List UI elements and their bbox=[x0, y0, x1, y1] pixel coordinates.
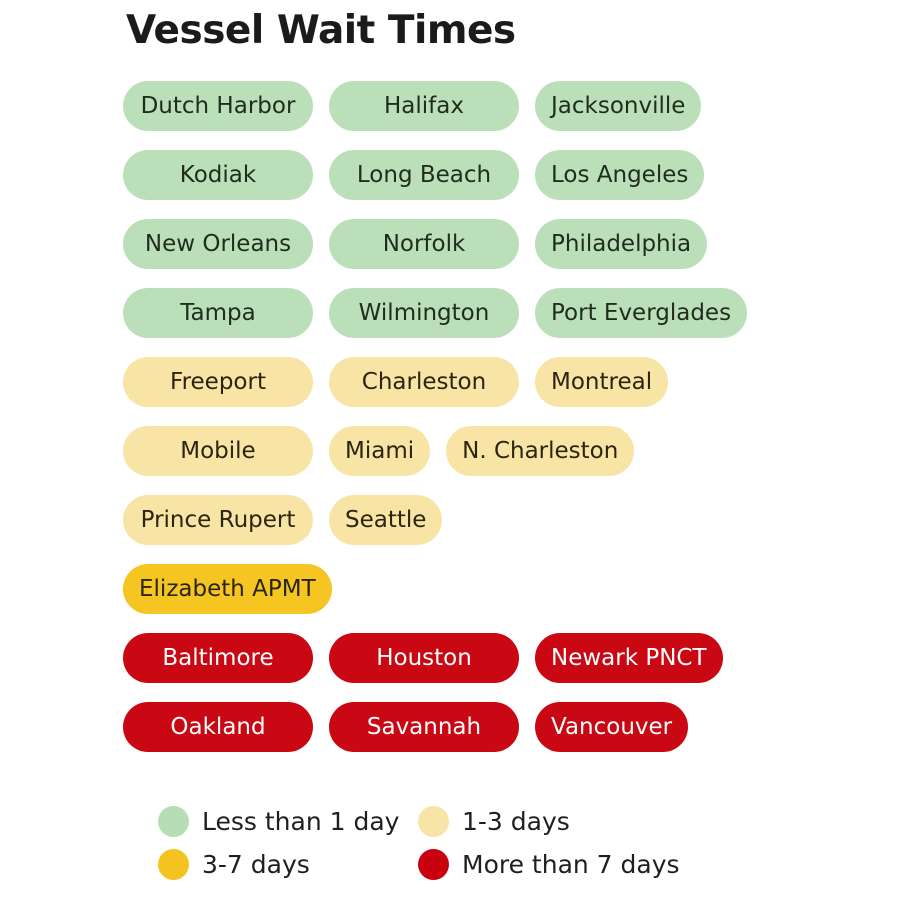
port-row: OaklandSavannahVancouver bbox=[123, 700, 823, 754]
port-cell: N. Charleston bbox=[446, 426, 634, 476]
port-cell: Prince Rupert bbox=[123, 495, 313, 545]
port-cell: Philadelphia bbox=[535, 219, 707, 269]
port-pill[interactable]: Dutch Harbor bbox=[123, 81, 313, 131]
port-cell: Seattle bbox=[329, 495, 442, 545]
more-than-7-days-swatch bbox=[418, 849, 449, 880]
port-pill[interactable]: Newark PNCT bbox=[535, 633, 723, 683]
port-pill[interactable]: Houston bbox=[329, 633, 519, 683]
port-cell: Kodiak bbox=[123, 150, 313, 200]
port-row: Prince RupertSeattle bbox=[123, 493, 823, 547]
port-cell: Mobile bbox=[123, 426, 313, 476]
port-pill[interactable]: Montreal bbox=[535, 357, 668, 407]
port-pill[interactable]: Kodiak bbox=[123, 150, 313, 200]
port-cell: Wilmington bbox=[329, 288, 519, 338]
port-cell: Newark PNCT bbox=[535, 633, 723, 683]
port-row: New OrleansNorfolkPhiladelphia bbox=[123, 217, 823, 271]
legend-label: Less than 1 day bbox=[202, 807, 399, 836]
legend-row: 3-7 daysMore than 7 days bbox=[158, 843, 858, 886]
port-row: MobileMiamiN. Charleston bbox=[123, 424, 823, 478]
port-pill-grid: Dutch HarborHalifaxJacksonvilleKodiakLon… bbox=[123, 79, 823, 769]
port-pill[interactable]: Seattle bbox=[329, 495, 442, 545]
port-cell: Jacksonville bbox=[535, 81, 701, 131]
port-pill[interactable]: Philadelphia bbox=[535, 219, 707, 269]
port-pill[interactable]: Elizabeth APMT bbox=[123, 564, 332, 614]
legend-label: More than 7 days bbox=[462, 850, 680, 879]
1-3-days-swatch bbox=[418, 806, 449, 837]
page-title: Vessel Wait Times bbox=[126, 8, 516, 53]
port-pill[interactable]: Savannah bbox=[329, 702, 519, 752]
3-7-days-swatch bbox=[158, 849, 189, 880]
port-row: KodiakLong BeachLos Angeles bbox=[123, 148, 823, 202]
port-pill[interactable]: Los Angeles bbox=[535, 150, 704, 200]
port-pill[interactable]: Long Beach bbox=[329, 150, 519, 200]
port-row: TampaWilmingtonPort Everglades bbox=[123, 286, 823, 340]
port-cell: Oakland bbox=[123, 702, 313, 752]
less-than-1-day-swatch bbox=[158, 806, 189, 837]
legend-row: Less than 1 day1-3 days bbox=[158, 800, 858, 843]
port-cell: Halifax bbox=[329, 81, 519, 131]
port-cell: Norfolk bbox=[329, 219, 519, 269]
port-cell: Vancouver bbox=[535, 702, 688, 752]
legend-label: 1-3 days bbox=[462, 807, 570, 836]
port-pill[interactable]: Prince Rupert bbox=[123, 495, 313, 545]
port-pill[interactable]: N. Charleston bbox=[446, 426, 634, 476]
port-cell: Charleston bbox=[329, 357, 519, 407]
legend-item[interactable]: 1-3 days bbox=[418, 806, 678, 837]
port-pill[interactable]: Wilmington bbox=[329, 288, 519, 338]
port-pill[interactable]: Halifax bbox=[329, 81, 519, 131]
port-cell: Elizabeth APMT bbox=[123, 564, 332, 614]
legend-item[interactable]: 3-7 days bbox=[158, 849, 418, 880]
port-row: Elizabeth APMT bbox=[123, 562, 823, 616]
port-cell: Baltimore bbox=[123, 633, 313, 683]
port-pill[interactable]: Miami bbox=[329, 426, 430, 476]
port-pill[interactable]: Baltimore bbox=[123, 633, 313, 683]
port-cell: Houston bbox=[329, 633, 519, 683]
port-pill[interactable]: Tampa bbox=[123, 288, 313, 338]
port-cell: Miami bbox=[329, 426, 430, 476]
port-cell: Los Angeles bbox=[535, 150, 704, 200]
vessel-wait-times-infographic: Vessel Wait Times Dutch HarborHalifaxJac… bbox=[0, 0, 900, 900]
legend-label: 3-7 days bbox=[202, 850, 310, 879]
port-cell: Dutch Harbor bbox=[123, 81, 313, 131]
port-pill[interactable]: Mobile bbox=[123, 426, 313, 476]
legend-item[interactable]: More than 7 days bbox=[418, 849, 678, 880]
port-cell: Port Everglades bbox=[535, 288, 747, 338]
port-row: BaltimoreHoustonNewark PNCT bbox=[123, 631, 823, 685]
port-row: FreeportCharlestonMontreal bbox=[123, 355, 823, 409]
port-cell: Savannah bbox=[329, 702, 519, 752]
legend-item[interactable]: Less than 1 day bbox=[158, 806, 418, 837]
port-cell: Long Beach bbox=[329, 150, 519, 200]
legend: Less than 1 day1-3 days3-7 daysMore than… bbox=[158, 800, 858, 886]
port-pill[interactable]: Oakland bbox=[123, 702, 313, 752]
port-pill[interactable]: Vancouver bbox=[535, 702, 688, 752]
port-row: Dutch HarborHalifaxJacksonville bbox=[123, 79, 823, 133]
port-pill[interactable]: Charleston bbox=[329, 357, 519, 407]
port-cell: New Orleans bbox=[123, 219, 313, 269]
port-pill[interactable]: Freeport bbox=[123, 357, 313, 407]
port-pill[interactable]: Norfolk bbox=[329, 219, 519, 269]
port-cell: Freeport bbox=[123, 357, 313, 407]
port-cell: Tampa bbox=[123, 288, 313, 338]
port-pill[interactable]: New Orleans bbox=[123, 219, 313, 269]
port-cell: Montreal bbox=[535, 357, 668, 407]
port-pill[interactable]: Port Everglades bbox=[535, 288, 747, 338]
port-pill[interactable]: Jacksonville bbox=[535, 81, 701, 131]
